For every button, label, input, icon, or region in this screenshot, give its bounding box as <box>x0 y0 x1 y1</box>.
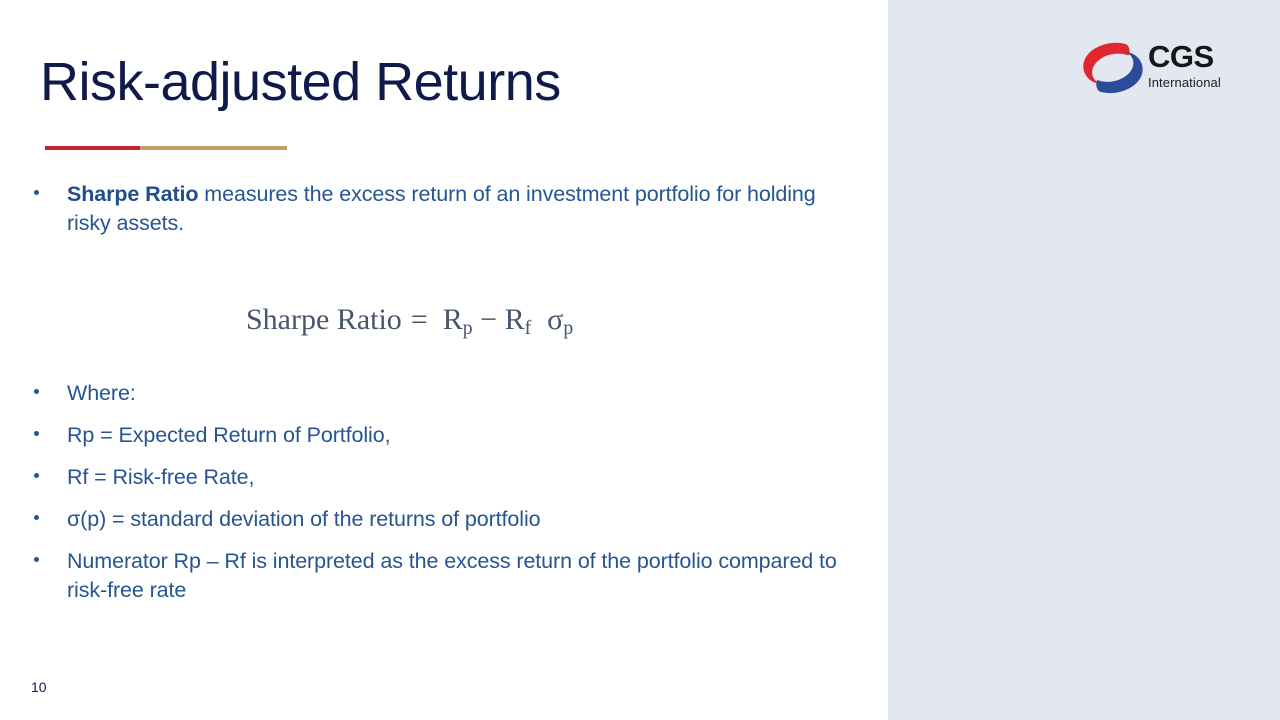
title-divider-red-segment <box>45 146 140 150</box>
bullet-dot-icon <box>34 389 39 394</box>
bullet-text: Numerator Rp – Rf is interpreted as the … <box>67 549 837 602</box>
list-item: σ(p) = standard deviation of the returns… <box>28 505 838 534</box>
cgs-international-logo: CGS International <box>1082 40 1240 98</box>
formula-minus-sign: − <box>480 303 497 336</box>
title-divider <box>45 146 287 150</box>
right-side-panel <box>888 0 1280 720</box>
bullet-dot-icon <box>34 557 39 562</box>
formula-fraction: Rp − Rf σp <box>437 303 580 340</box>
sharpe-ratio-formula: Sharpe Ratio = Rp − Rf σp <box>246 276 579 366</box>
page-title: Risk-adjusted Returns <box>40 50 561 114</box>
list-item: Numerator Rp – Rf is interpreted as the … <box>28 547 838 605</box>
formula-rp-symbol: R <box>443 303 463 336</box>
formula-sigma-symbol: σ <box>547 303 563 336</box>
bullet-dot-icon <box>34 473 39 478</box>
bullet-text: Where: <box>67 381 136 405</box>
formula-label: Sharpe Ratio <box>246 305 402 337</box>
bullet-text: σ(p) = standard deviation of the returns… <box>67 507 540 531</box>
list-item: Rp = Expected Return of Portfolio, <box>28 421 838 450</box>
formula-rp-subscript: p <box>463 317 473 339</box>
bullet-text: Rp = Expected Return of Portfolio, <box>67 423 390 447</box>
bullet-dot-icon <box>34 431 39 436</box>
formula-rf-subscript: f <box>525 317 532 339</box>
logo-wordmark: CGS International <box>1148 40 1240 90</box>
title-divider-gold-segment <box>140 146 287 150</box>
formula-equals-sign: = <box>402 303 437 339</box>
bullet-dot-icon <box>34 190 39 195</box>
bullet-lead-in: Sharpe Ratio <box>67 182 198 206</box>
formula-denominator: σp <box>541 303 579 336</box>
list-item: Rf = Risk-free Rate, <box>28 463 838 492</box>
bullet-list-definitions: Where: Rp = Expected Return of Portfolio… <box>28 379 838 605</box>
cgs-swirl-icon <box>1082 42 1144 94</box>
formula-numerator: Rp − Rf <box>437 303 537 336</box>
formula-sigma-subscript: p <box>563 317 573 339</box>
list-item: Where: <box>28 379 838 408</box>
bullet-list: Sharpe Ratio measures the excess return … <box>28 180 838 238</box>
list-item: Sharpe Ratio measures the excess return … <box>28 180 838 238</box>
logo-subtitle: International <box>1148 75 1240 90</box>
slide: CGS International Risk-adjusted Returns … <box>0 0 1280 720</box>
bullet-dot-icon <box>34 515 39 520</box>
page-number: 10 <box>31 678 47 696</box>
logo-name: CGS <box>1148 40 1240 74</box>
bullet-text: Rf = Risk-free Rate, <box>67 465 254 489</box>
formula-rf-symbol: R <box>505 303 525 336</box>
